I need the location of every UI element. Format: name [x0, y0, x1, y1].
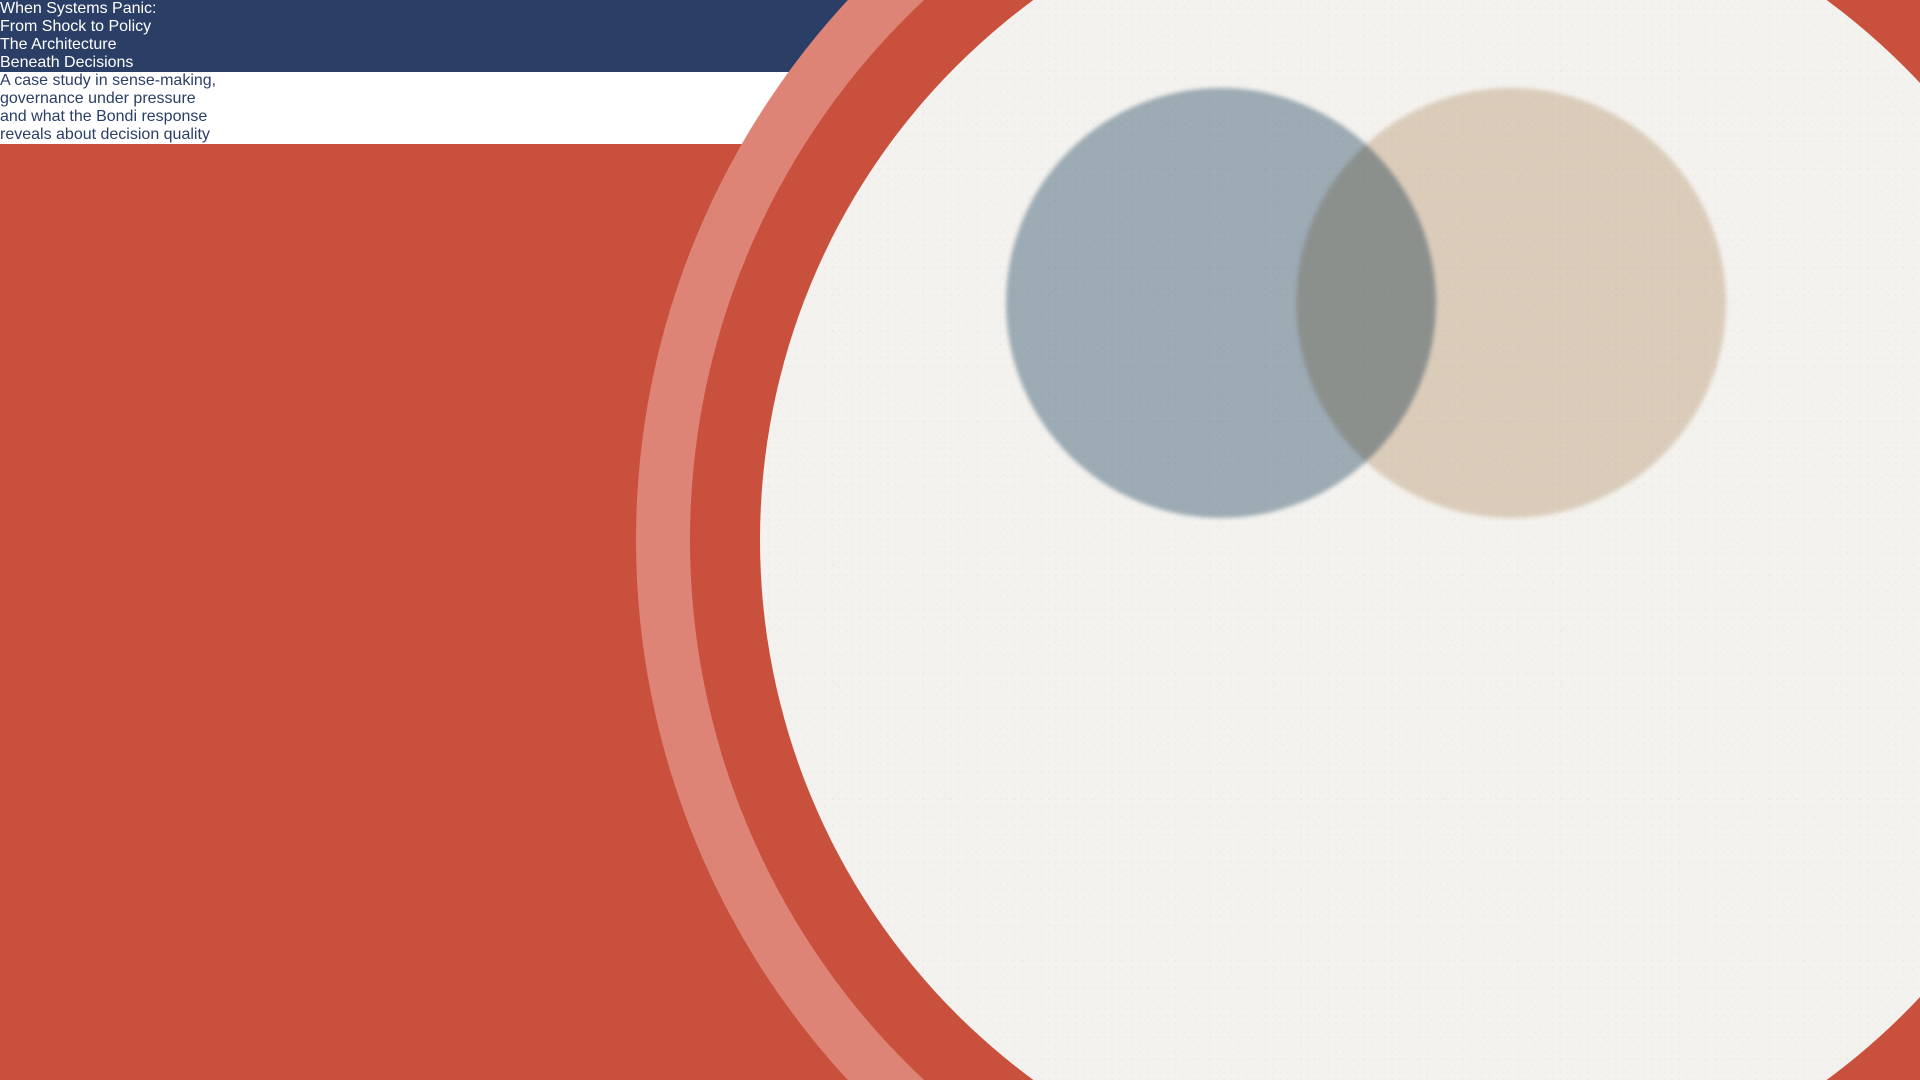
abstract-artwork	[960, 0, 1920, 1080]
artwork-circle-top-right	[1296, 88, 1726, 518]
title-slide: When Systems Panic: From Shock to Policy…	[0, 0, 1920, 1080]
